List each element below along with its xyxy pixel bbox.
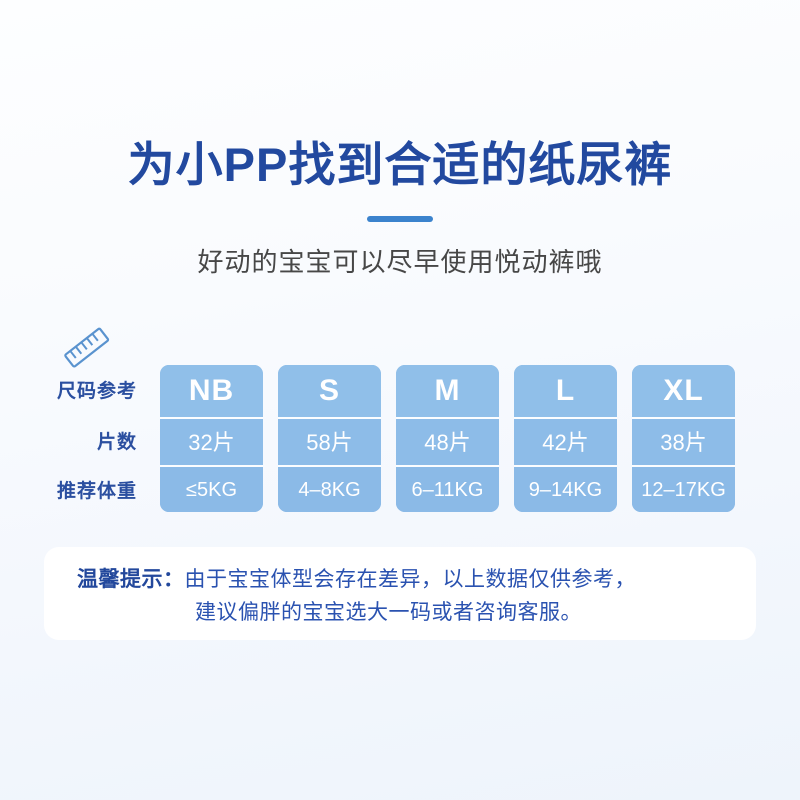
size-column-l: L 42片 9–14KG — [514, 365, 617, 512]
cell-weight: 6–11KG — [396, 465, 499, 512]
cell-size: NB — [160, 365, 263, 417]
tip-body-line2: 建议偏胖的宝宝选大一码或者咨询客服。 — [77, 596, 737, 629]
size-guide-page: 为小PP找到合适的纸尿裤 好动的宝宝可以尽早使用悦动裤哦 尺码参考 片数 推荐体… — [0, 0, 800, 800]
tip-text: 温馨提示：由于宝宝体型会存在差异，以上数据仅供参考， 建议偏胖的宝宝选大一码或者… — [77, 563, 737, 629]
tip-card: 温馨提示：由于宝宝体型会存在差异，以上数据仅供参考， 建议偏胖的宝宝选大一码或者… — [44, 547, 756, 640]
cell-count: 48片 — [396, 417, 499, 465]
size-column-s: S 58片 4–8KG — [278, 365, 381, 512]
size-column-nb: NB 32片 ≤5KG — [160, 365, 263, 512]
size-table-row-labels: 尺码参考 片数 推荐体重 — [0, 366, 137, 516]
tip-body-line1: 由于宝宝体型会存在差异，以上数据仅供参考， — [185, 568, 637, 591]
cell-weight: 9–14KG — [514, 465, 617, 512]
size-table-columns: NB 32片 ≤5KG S 58片 4–8KG M 48片 6–11KG L 4… — [160, 365, 748, 512]
cell-count: 58片 — [278, 417, 381, 465]
size-table: 尺码参考 片数 推荐体重 NB 32片 ≤5KG S 58片 4–8KG M 4… — [0, 318, 800, 528]
row-label-weight: 推荐体重 — [0, 468, 137, 516]
cell-count: 42片 — [514, 417, 617, 465]
header: 为小PP找到合适的纸尿裤 好动的宝宝可以尽早使用悦动裤哦 — [0, 136, 800, 279]
cell-count: 38片 — [632, 417, 735, 465]
cell-count: 32片 — [160, 417, 263, 465]
title-divider — [367, 216, 433, 222]
cell-size: L — [514, 365, 617, 417]
cell-size: S — [278, 365, 381, 417]
row-label-size: 尺码参考 — [0, 366, 137, 418]
page-subtitle: 好动的宝宝可以尽早使用悦动裤哦 — [0, 245, 800, 279]
size-column-xl: XL 38片 12–17KG — [632, 365, 735, 512]
cell-size: M — [396, 365, 499, 417]
cell-weight: ≤5KG — [160, 465, 263, 512]
size-column-m: M 48片 6–11KG — [396, 365, 499, 512]
tip-label: 温馨提示： — [77, 568, 185, 591]
row-label-count: 片数 — [0, 418, 137, 468]
cell-size: XL — [632, 365, 735, 417]
cell-weight: 4–8KG — [278, 465, 381, 512]
cell-weight: 12–17KG — [632, 465, 735, 512]
page-title: 为小PP找到合适的纸尿裤 — [0, 136, 800, 194]
